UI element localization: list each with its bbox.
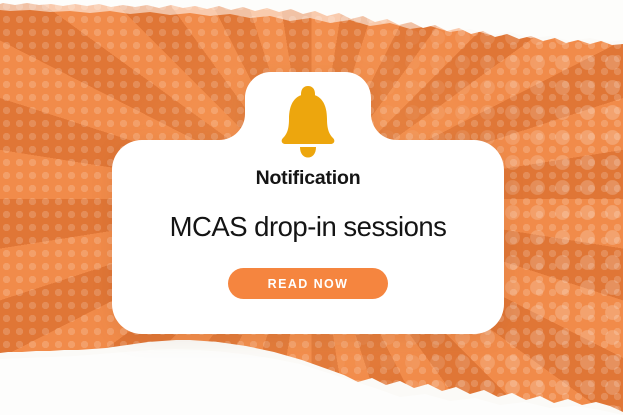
notification-banner: Notification MCAS drop-in sessions READ … <box>0 0 623 415</box>
notification-headline: MCAS drop-in sessions <box>170 213 447 241</box>
page-title: Notification <box>256 169 361 189</box>
read-now-button[interactable]: READ NOW <box>228 268 388 299</box>
torn-paper-edge-bottom <box>0 320 623 415</box>
torn-paper-edge-top <box>0 0 623 80</box>
bell-icon <box>277 80 339 158</box>
notification-card: Notification MCAS drop-in sessions READ … <box>112 72 504 334</box>
